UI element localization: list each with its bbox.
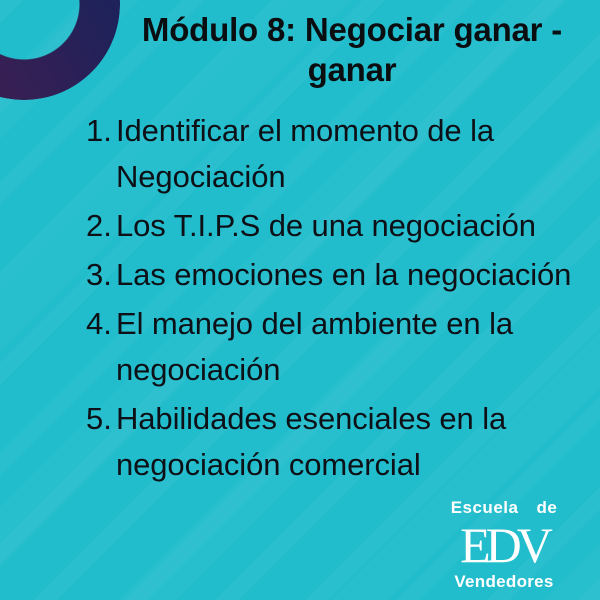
list-item: 4. El manejo del ambiente en la negociac… <box>86 301 586 393</box>
ring-decoration-icon <box>0 0 120 100</box>
list-item: 3. Las emociones en la negociación <box>86 252 586 298</box>
list-item-label: Habilidades esenciales en la negociación… <box>116 396 586 488</box>
list-item-label: Las emociones en la negociación <box>116 252 586 298</box>
list-item-label: El manejo del ambiente en la negociación <box>116 301 586 393</box>
list-item-label: Identificar el momento de la Negociación <box>116 108 586 200</box>
list-item: 2. Los T.I.P.S de una negociación <box>86 203 586 249</box>
list-item-number: 5. <box>86 396 116 442</box>
list-item-number: 4. <box>86 301 116 347</box>
logo-word-escuela: Escuela <box>451 498 519 518</box>
numbered-list: 1. Identificar el momento de la Negociac… <box>86 108 586 491</box>
logo-bottom-line: Vendedores <box>424 572 584 592</box>
list-item: 1. Identificar el momento de la Negociac… <box>86 108 586 200</box>
slide-canvas: Módulo 8: Negociar ganar - ganar 1. Iden… <box>0 0 600 600</box>
logo-monogram: EDV <box>424 520 584 570</box>
list-item-number: 3. <box>86 252 116 298</box>
brand-logo: Escuela de EDV Vendedores <box>424 498 584 592</box>
list-item: 5. Habilidades esenciales en la negociac… <box>86 396 586 488</box>
logo-top-line: Escuela de <box>424 498 584 518</box>
page-title: Módulo 8: Negociar ganar - ganar <box>126 10 578 91</box>
list-item-number: 1. <box>86 108 116 154</box>
list-item-label: Los T.I.P.S de una negociación <box>116 203 586 249</box>
list-item-number: 2. <box>86 203 116 249</box>
logo-word-de: de <box>536 498 557 518</box>
